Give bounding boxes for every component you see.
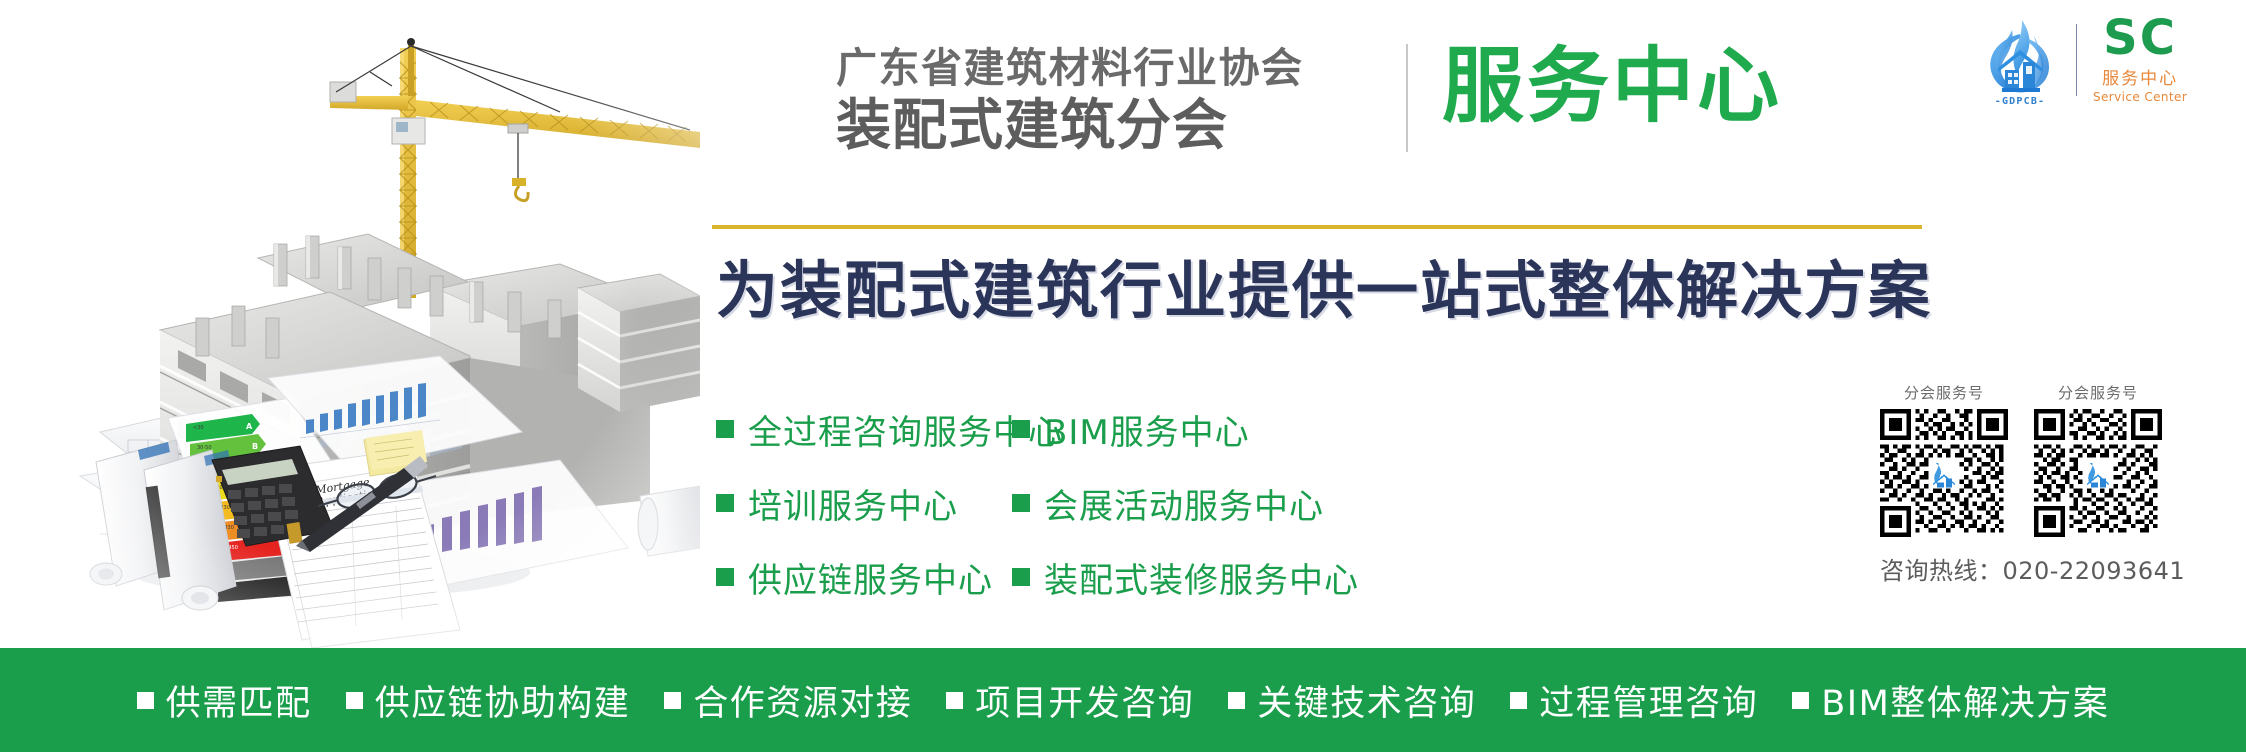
- footer-item[interactable]: 项目开发咨询: [946, 675, 1194, 726]
- bullet-square-icon: [716, 568, 734, 586]
- tagline: 为装配式建筑行业提供一站式整体解决方案: [716, 254, 1932, 328]
- bullet-square-icon: [1012, 420, 1030, 438]
- construction-illustration: A <30 B 30-50 C 51-90 D: [0, 0, 700, 648]
- service-label: 供应链服务中心: [748, 553, 993, 602]
- footer-item[interactable]: 关键技术咨询: [1228, 675, 1476, 726]
- bullet-square-icon: [1012, 494, 1030, 512]
- bullet-square-icon: [664, 692, 681, 709]
- qr-row: 分会服务号: [1880, 382, 2222, 537]
- sc-english-label: Service Center: [2093, 90, 2187, 104]
- footer-item[interactable]: 合作资源对接: [664, 675, 912, 726]
- qr-contact-block: 分会服务号: [1880, 382, 2222, 586]
- construction-photo: A <30 B 30-50 C 51-90 D: [0, 0, 700, 648]
- footer-item-label: 过程管理咨询: [1539, 675, 1758, 726]
- bullet-square-icon: [716, 494, 734, 512]
- footer-item[interactable]: 供需匹配: [137, 675, 312, 726]
- service-label: 会展活动服务中心: [1044, 479, 1324, 528]
- association-name-line2: 装配式建筑分会: [836, 95, 1396, 157]
- bullet-square-icon: [346, 692, 363, 709]
- footer-item-label: 项目开发咨询: [975, 675, 1194, 726]
- qr-caption: 分会服务号: [2034, 382, 2162, 403]
- logo-caption: -GDPCB-: [1978, 96, 2062, 107]
- bullet-square-icon: [1792, 692, 1809, 709]
- footer-item-label: 供需匹配: [166, 675, 312, 726]
- bullet-square-icon: [716, 420, 734, 438]
- sc-abbreviation: SC: [2103, 16, 2177, 62]
- footer-item-label: 供应链协助构建: [375, 675, 631, 726]
- footer-item[interactable]: 过程管理咨询: [1510, 675, 1758, 726]
- qr-caption: 分会服务号: [1880, 382, 2008, 403]
- list-item[interactable]: 培训服务中心: [716, 478, 1063, 528]
- bullet-square-icon: [946, 692, 963, 709]
- sc-wordmark: SC 服务中心 Service Center: [2093, 16, 2187, 105]
- association-name-line1: 广东省建筑材料行业协会: [836, 46, 1396, 90]
- footer-items: 供需匹配 供应链协助构建 合作资源对接 项目开发咨询 关键技术咨询 过程管理咨询: [137, 675, 2110, 726]
- bullet-square-icon: [137, 692, 154, 709]
- footer-item-label: BIM整体解决方案: [1821, 675, 2109, 726]
- bullet-square-icon: [1228, 692, 1245, 709]
- bullet-square-icon: [1012, 568, 1030, 586]
- service-column-left: 全过程咨询服务中心 培训服务中心 供应链服务中心: [716, 404, 1063, 626]
- list-item[interactable]: 全过程咨询服务中心: [716, 404, 1063, 454]
- bullet-square-icon: [1510, 692, 1527, 709]
- service-column-right: BIM服务中心 会展活动服务中心 装配式装修服务中心: [1012, 404, 1359, 626]
- service-center-title: 服务中心: [1442, 42, 1782, 132]
- service-label: 装配式装修服务中心: [1044, 553, 1359, 602]
- flame-house-icon: -GDPCB-: [1978, 14, 2062, 106]
- association-name-block: 广东省建筑材料行业协会 装配式建筑分会: [836, 46, 1396, 157]
- qr-cell: 分会服务号: [2034, 382, 2162, 537]
- list-item[interactable]: BIM服务中心: [1012, 404, 1359, 454]
- list-item[interactable]: 装配式装修服务中心: [1012, 552, 1359, 602]
- footer-item[interactable]: BIM整体解决方案: [1792, 675, 2109, 726]
- service-label: BIM服务中心: [1044, 405, 1250, 454]
- gold-horizontal-rule: [712, 225, 1922, 229]
- footer-item-label: 合作资源对接: [693, 675, 912, 726]
- brand-logo-lockup: -GDPCB- SC 服务中心 Service Center: [1978, 14, 2187, 106]
- footer-service-bar: 供需匹配 供应链协助构建 合作资源对接 项目开发咨询 关键技术咨询 过程管理咨询: [0, 648, 2246, 752]
- promotional-banner: A <30 B 30-50 C 51-90 D: [0, 0, 2246, 752]
- footer-item[interactable]: 供应链协助构建: [346, 675, 631, 726]
- qr-code-icon[interactable]: [2034, 409, 2162, 537]
- hotline-text: 咨询热线：020-22093641: [1880, 551, 2222, 586]
- list-item[interactable]: 供应链服务中心: [716, 552, 1063, 602]
- logo-separator: [2076, 24, 2077, 96]
- footer-item-label: 关键技术咨询: [1257, 675, 1476, 726]
- service-label: 培训服务中心: [748, 479, 958, 528]
- sc-chinese-label: 服务中心: [2102, 64, 2178, 89]
- qr-code-icon[interactable]: [1880, 409, 2008, 537]
- list-item[interactable]: 会展活动服务中心: [1012, 478, 1359, 528]
- title-divider: [1406, 44, 1408, 152]
- qr-cell: 分会服务号: [1880, 382, 2008, 537]
